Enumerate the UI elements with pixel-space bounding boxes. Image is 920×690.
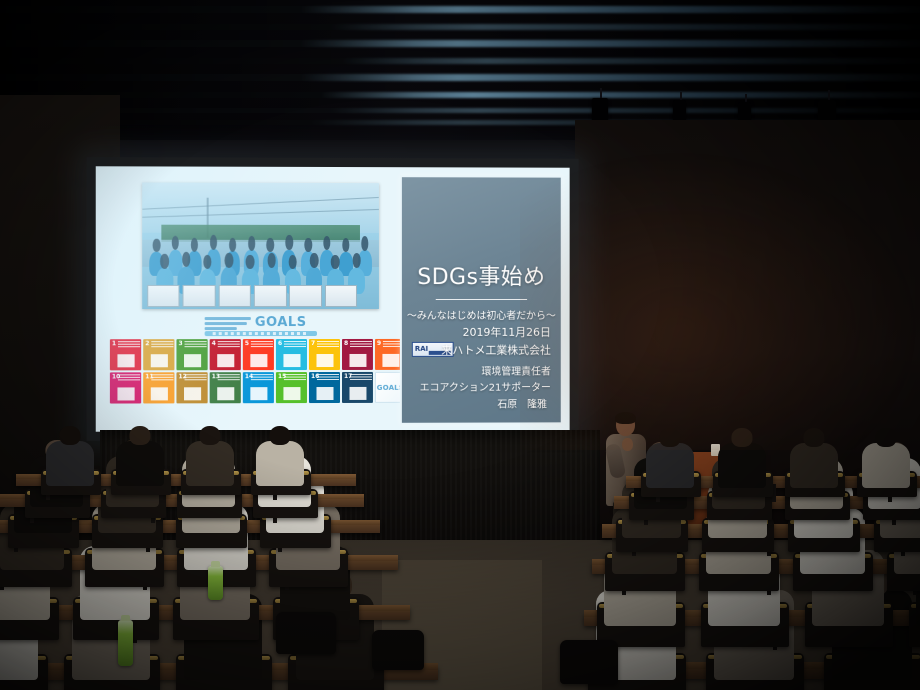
- audience-member: [646, 428, 694, 490]
- sdg-icon-2: 2: [143, 339, 174, 370]
- person-head: [876, 428, 897, 447]
- sdg-icon-5: 5: [243, 339, 274, 370]
- floor-bag: [560, 640, 618, 684]
- person-torso: [46, 441, 94, 486]
- person-head: [804, 428, 825, 447]
- title-divider: [436, 299, 527, 300]
- person-head: [660, 428, 681, 447]
- person-head: [60, 426, 81, 445]
- audience-member: [790, 428, 838, 490]
- person-torso: [718, 443, 766, 488]
- projection-screen: GOALS 1234567891011121314151617GOALS SDG…: [87, 157, 579, 441]
- tea-bottle: [208, 566, 223, 600]
- floor-bag: [276, 612, 336, 654]
- person-torso: [790, 443, 838, 488]
- person-head: [200, 426, 221, 445]
- slide-title: SDGs事始め: [402, 259, 561, 291]
- sdg-icon-6: 6: [276, 339, 307, 370]
- sdg-icon-12: 12: [176, 372, 207, 403]
- person-head: [270, 426, 291, 445]
- person-torso: [256, 441, 304, 486]
- sdg-icon-8: 8: [342, 339, 373, 370]
- sdg-icon-grid: 1234567891011121314151617GOALS: [110, 339, 411, 404]
- sdg-wordmark: GOALS: [205, 315, 317, 335]
- person-head: [732, 428, 753, 447]
- audience-member: [186, 426, 234, 488]
- slide-subtitle: 〜みんなはじめは初心者だから〜: [402, 307, 561, 322]
- audience-member: [116, 426, 164, 488]
- floor-bag: [372, 630, 424, 670]
- slide-date: 2019年11月26日: [402, 324, 561, 340]
- audience-member: [862, 428, 910, 490]
- sdg-icon-15: 15: [276, 372, 307, 403]
- sdg-icon-11: 11: [143, 372, 174, 403]
- auditorium-scene: GOALS 1234567891011121314151617GOALS SDG…: [0, 0, 920, 690]
- sdg-icon-1: 1: [110, 339, 141, 370]
- presenter-role-2: エコアクション21サポーター: [402, 379, 561, 394]
- sdg-icon-10: 10: [110, 372, 141, 403]
- company-name: 来ハトメ工業株式会社: [402, 342, 561, 358]
- person-torso: [862, 443, 910, 488]
- presenter-name: 石原 隆雅: [402, 395, 561, 410]
- person-torso: [186, 441, 234, 486]
- sdg-icon-7: 7: [309, 339, 340, 370]
- sdg-icon-3: 3: [176, 339, 207, 370]
- projected-slide: GOALS 1234567891011121314151617GOALS SDG…: [96, 166, 570, 431]
- desk-leg: [772, 484, 776, 503]
- slide-title-panel: SDGs事始め 〜みんなはじめは初心者だから〜 2019年11月26日 RAI …: [400, 175, 563, 425]
- sdg-icon-4: 4: [210, 339, 241, 370]
- group-photo: [142, 182, 379, 309]
- presenter-role-1: 環境管理責任者: [402, 363, 561, 378]
- audience-member: [46, 426, 94, 488]
- audience-member: [256, 426, 304, 488]
- sdg-icon-13: 13: [210, 372, 241, 403]
- sdg-icon-14: 14: [243, 372, 274, 403]
- sdg-icon-16: 16: [309, 372, 340, 403]
- sdg-icon-17: 17: [342, 372, 373, 403]
- audience-member: [718, 428, 766, 490]
- tea-bottle: [118, 620, 133, 666]
- person-head: [130, 426, 151, 445]
- person-torso: [116, 441, 164, 486]
- sdg-goals-text: GOALS: [255, 315, 307, 330]
- person-torso: [646, 443, 694, 488]
